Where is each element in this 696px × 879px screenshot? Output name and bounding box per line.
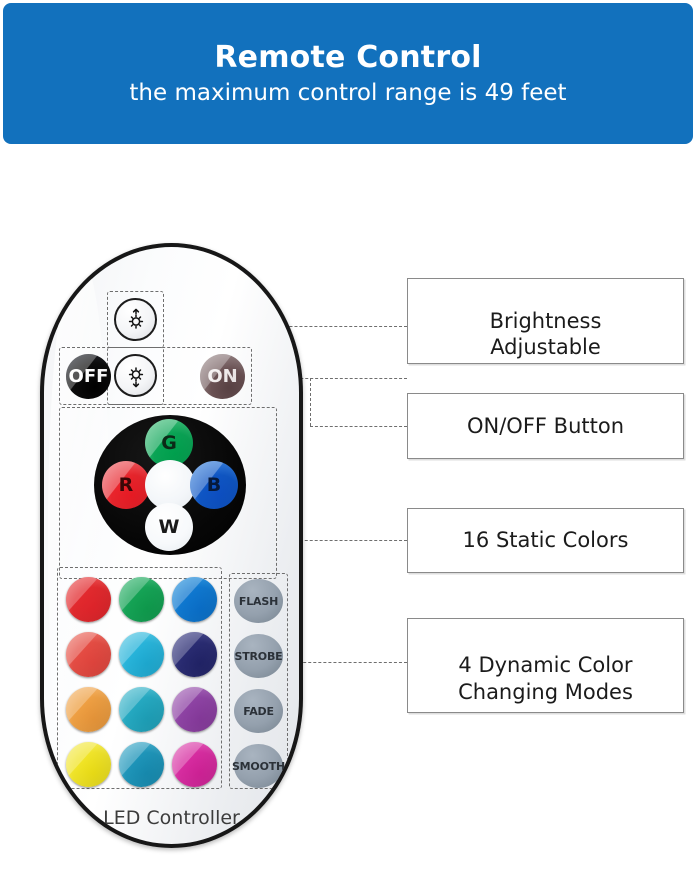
wheel-red-label: R xyxy=(119,476,134,495)
smooth-button[interactable]: SMOOTH xyxy=(234,744,283,788)
color-key-teal[interactable] xyxy=(119,687,164,732)
remote-control-device: OFF xyxy=(40,243,303,848)
off-button[interactable]: OFF xyxy=(66,354,111,399)
connector-on-off-vertical xyxy=(310,378,311,426)
remote-brand-label: LED Controller xyxy=(44,807,299,829)
wheel-white-label: W xyxy=(159,518,180,537)
color-key-purple[interactable] xyxy=(172,687,217,732)
callout-brightness: BrightnessAdjustable xyxy=(407,278,684,364)
color-key-yellow[interactable] xyxy=(66,742,111,787)
sun-up-icon xyxy=(123,307,149,333)
remote-surface: OFF xyxy=(44,247,299,844)
fade-button-label: FADE xyxy=(243,705,274,718)
color-key-green[interactable] xyxy=(119,577,164,622)
off-button-label: OFF xyxy=(69,368,109,386)
page-title: Remote Control xyxy=(214,41,481,74)
smooth-button-label: SMOOTH xyxy=(232,760,285,773)
color-key-cyan[interactable] xyxy=(119,632,164,677)
color-key-magenta[interactable] xyxy=(172,742,217,787)
strobe-button-label: STROBE xyxy=(235,650,283,663)
wheel-white-button[interactable]: W xyxy=(145,503,193,551)
color-key-orange[interactable] xyxy=(66,687,111,732)
flash-button-label: FLASH xyxy=(239,595,278,608)
callout-on-off-text: ON/OFF Button xyxy=(467,413,624,440)
callout-on-off: ON/OFF Button xyxy=(407,393,684,459)
page-subtitle: the maximum control range is 49 feet xyxy=(129,80,566,106)
color-key-navy[interactable] xyxy=(172,632,217,677)
wheel-red-button[interactable]: R xyxy=(102,461,150,509)
callout-dynamic-modes-text: 4 Dynamic ColorChanging Modes xyxy=(458,625,633,706)
wheel-blue-label: B xyxy=(207,476,221,495)
callout-static-colors-text: 16 Static Colors xyxy=(463,527,629,554)
flash-button[interactable]: FLASH xyxy=(234,579,283,623)
callout-static-colors: 16 Static Colors xyxy=(407,508,684,573)
color-key-steel-blue[interactable] xyxy=(119,742,164,787)
connector-on-off-foot xyxy=(310,426,407,427)
wheel-blue-button[interactable]: B xyxy=(190,461,238,509)
rgbw-wheel: G R B W xyxy=(94,415,246,555)
wheel-green-label: G xyxy=(161,434,177,453)
strobe-button[interactable]: STROBE xyxy=(234,634,283,678)
callout-dynamic-modes: 4 Dynamic ColorChanging Modes xyxy=(407,618,684,713)
on-button-label: ON xyxy=(207,368,237,386)
color-key-blue[interactable] xyxy=(172,577,217,622)
page-root: Remote Control the maximum control range… xyxy=(0,0,696,879)
brightness-up-button[interactable] xyxy=(114,298,157,341)
callout-brightness-text: BrightnessAdjustable xyxy=(490,281,602,362)
header-banner: Remote Control the maximum control range… xyxy=(3,3,693,144)
on-button[interactable]: ON xyxy=(200,354,245,399)
color-key-salmon-red[interactable] xyxy=(66,632,111,677)
brightness-down-button[interactable] xyxy=(114,354,157,397)
color-key-red[interactable] xyxy=(66,577,111,622)
fade-button[interactable]: FADE xyxy=(234,689,283,733)
sun-down-icon xyxy=(123,363,149,389)
